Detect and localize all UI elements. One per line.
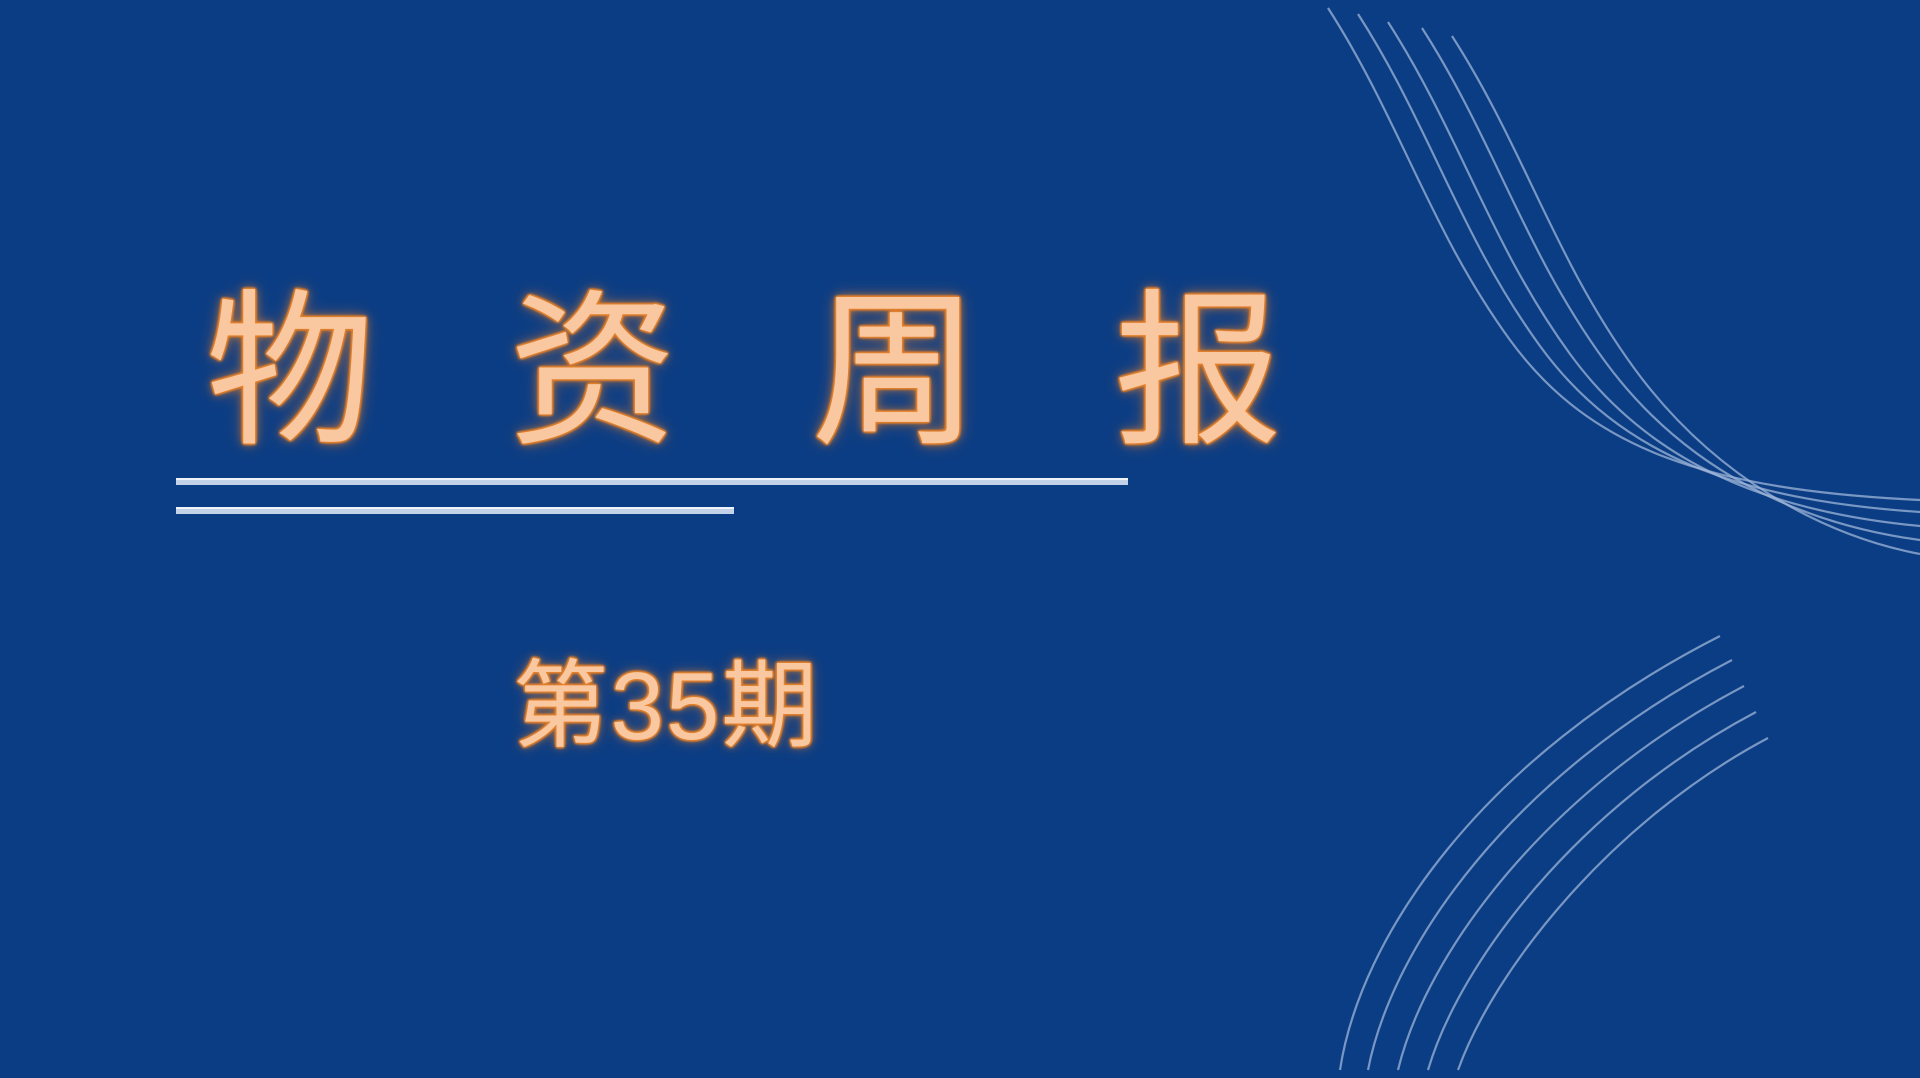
page-title: 物 资 周 报 (176, 288, 1156, 456)
divider-group (176, 478, 1156, 514)
flowing-ribbon-lines-top-right-icon (1280, 0, 1920, 600)
divider-short (176, 507, 734, 514)
flowing-ribbon-lines-bottom-right-icon (1300, 608, 1920, 1078)
slide-canvas: 物 资 周 报 第35期 (0, 0, 1920, 1078)
issue-subtitle: 第35期 (176, 652, 1156, 762)
divider-long (176, 478, 1128, 485)
title-block: 物 资 周 报 (176, 288, 1156, 514)
